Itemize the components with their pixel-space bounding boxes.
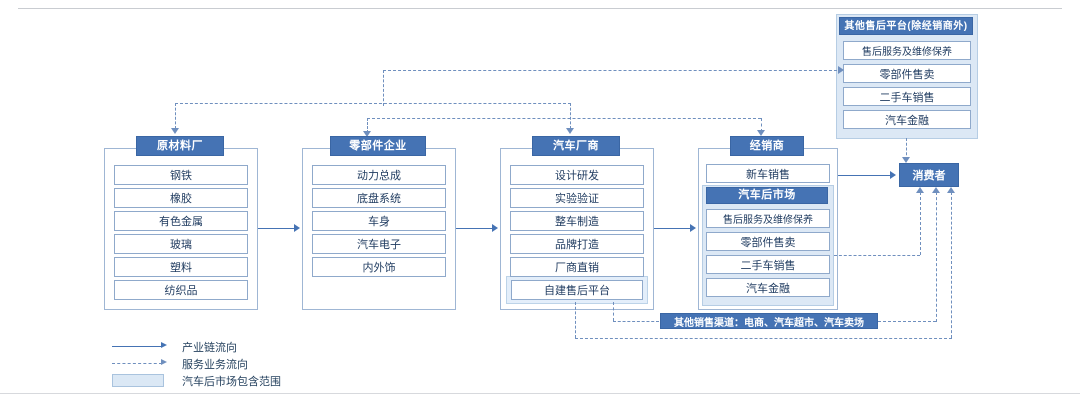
column-header-dealer[interactable]: 经销商 [730,136,804,156]
bottom-divider [0,393,1080,394]
service-flow-dealer-aftermarket-out [834,255,920,256]
service-flow-lower-horizontal [367,118,761,119]
list-item[interactable]: 塑料 [114,257,248,277]
list-item[interactable]: 零部件售卖 [843,64,971,83]
top-divider [18,8,1062,9]
column-header-oem[interactable]: 汽车厂商 [532,136,620,156]
list-item[interactable]: 钢铁 [114,165,248,185]
list-item[interactable]: 售后服务及维修保养 [706,209,830,228]
service-flow-channel-right [878,321,936,322]
list-item[interactable]: 设计研发 [510,165,644,185]
arrowhead-icon [838,66,844,74]
legend-row-service-flow: 服务业务流向 [112,355,281,372]
list-item[interactable]: 汽车电子 [312,234,446,254]
other-platform-header[interactable]: 其他售后平台(除经销商外) [839,17,973,35]
list-item[interactable]: 动力总成 [312,165,446,185]
arrowhead-icon [690,224,696,232]
service-flow-oem-platform-right-a [613,321,659,322]
list-item[interactable]: 二手车销售 [843,87,971,106]
list-item[interactable]: 售后服务及维修保养 [843,41,971,60]
flow-arrow-parts-to-oem [456,228,494,229]
list-item[interactable]: 汽车金融 [843,110,971,129]
list-item[interactable]: 底盘系统 [312,188,446,208]
dashed-arrow-icon [112,358,170,370]
list-item[interactable]: 整车制造 [510,211,644,231]
list-item[interactable]: 有色金属 [114,211,248,231]
list-item[interactable]: 厂商直销 [510,257,644,277]
list-item[interactable]: 纺织品 [114,280,248,300]
service-flow-bottom-riser [951,192,952,338]
legend-row-industry-flow: 产业链流向 [112,338,281,355]
legend-label: 产业链流向 [182,339,237,355]
dealer-aftermarket-header[interactable]: 汽车后市场 [706,187,828,204]
list-item[interactable]: 汽车金融 [706,278,830,297]
arrowhead-icon [294,224,300,232]
list-item[interactable]: 零部件售卖 [706,232,830,251]
service-flow-to-raw-material [175,103,176,129]
flow-arrow-dealer-to-consumer [838,175,892,176]
flow-arrow-oem-to-dealer [654,228,692,229]
arrowhead-icon [492,224,498,232]
solid-arrow-icon [112,341,170,353]
service-flow-top-horizontal [383,70,842,71]
arrowhead-icon [932,187,940,193]
blue-swatch-icon [112,375,170,387]
list-item[interactable]: 橡胶 [114,188,248,208]
service-flow-channel-riser [936,192,937,322]
legend-label: 服务业务流向 [182,356,248,372]
arrowhead-icon [566,128,574,134]
other-sales-channel-bar[interactable]: 其他销售渠道：电商、汽车超市、汽车卖场 [660,313,878,329]
list-item[interactable]: 新车销售 [706,164,830,183]
service-flow-to-oem [570,103,571,129]
diagram-canvas: 原材料厂 钢铁 橡胶 有色金属 玻璃 塑料 纺织品 零部件企业 动力总成 底盘系… [0,0,1080,403]
oem-self-built-aftersales-platform[interactable]: 自建售后平台 [511,280,643,300]
legend-row-aftermarket-scope: 汽车后市场包含范围 [112,372,281,389]
list-item[interactable]: 实验验证 [510,188,644,208]
service-flow-oem-platform-down [613,302,614,321]
service-flow-bottom-down [575,302,576,338]
legend: 产业链流向 服务业务流向 汽车后市场包含范围 [112,338,281,389]
list-item[interactable]: 车身 [312,211,446,231]
service-flow-top-riser [383,70,384,106]
service-flow-bottom-horizontal [575,338,952,339]
service-flow-dealer-aftermarket-riser [920,192,921,255]
arrowhead-icon [890,171,896,179]
flow-arrow-raw-to-parts [258,228,296,229]
arrowhead-icon [947,187,955,193]
arrowhead-icon [171,128,179,134]
consumer-box[interactable]: 消费者 [899,163,959,187]
list-item[interactable]: 内外饰 [312,257,446,277]
arrowhead-icon [916,187,924,193]
column-header-parts[interactable]: 零部件企业 [330,136,426,156]
column-header-raw-material[interactable]: 原材料厂 [136,136,224,156]
list-item[interactable]: 二手车销售 [706,255,830,274]
list-item[interactable]: 玻璃 [114,234,248,254]
list-item[interactable]: 品牌打造 [510,234,644,254]
service-flow-mid-horizontal [175,103,571,104]
legend-label: 汽车后市场包含范围 [182,373,281,389]
